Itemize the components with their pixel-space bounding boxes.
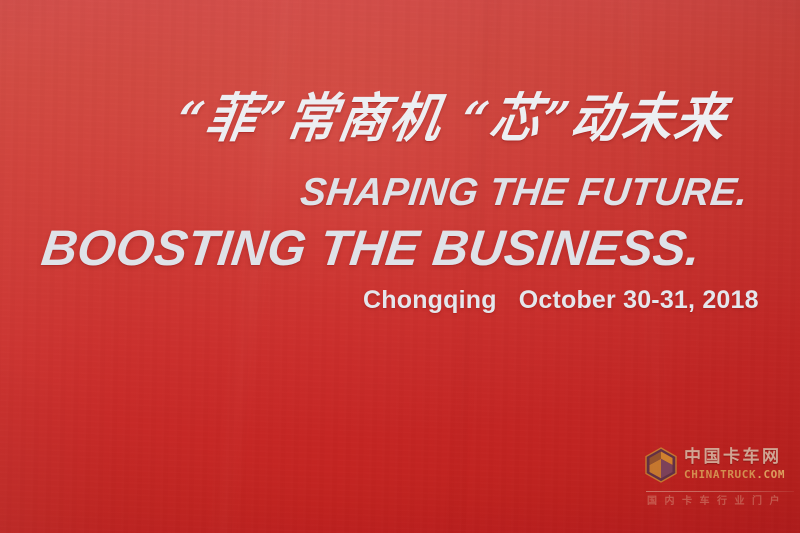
watermark-brand-name: CHINATRUCK [684,468,756,481]
chinatruck-logo-icon [644,447,678,483]
watermark-divider [646,491,794,492]
watermark-logo-row: 中国卡车网 CHINATRUCK.COM [644,447,785,483]
event-backdrop-photo: “菲”常商机 “芯”动未来 SHAPING THE FUTURE. BOOSTI… [0,0,800,533]
chinatruck-watermark: 中国卡车网 CHINATRUCK.COM 国内卡车行业门户 [644,447,796,513]
watermark-brand-english: CHINATRUCK.COM [684,468,785,482]
watermark-brand-chinese: 中国卡车网 [684,449,785,467]
watermark-brand-tld: .COM [756,468,785,481]
watermark-tagline: 国内卡车行业门户 [647,496,787,508]
watermark-wordmark: 中国卡车网 CHINATRUCK.COM [684,449,785,482]
